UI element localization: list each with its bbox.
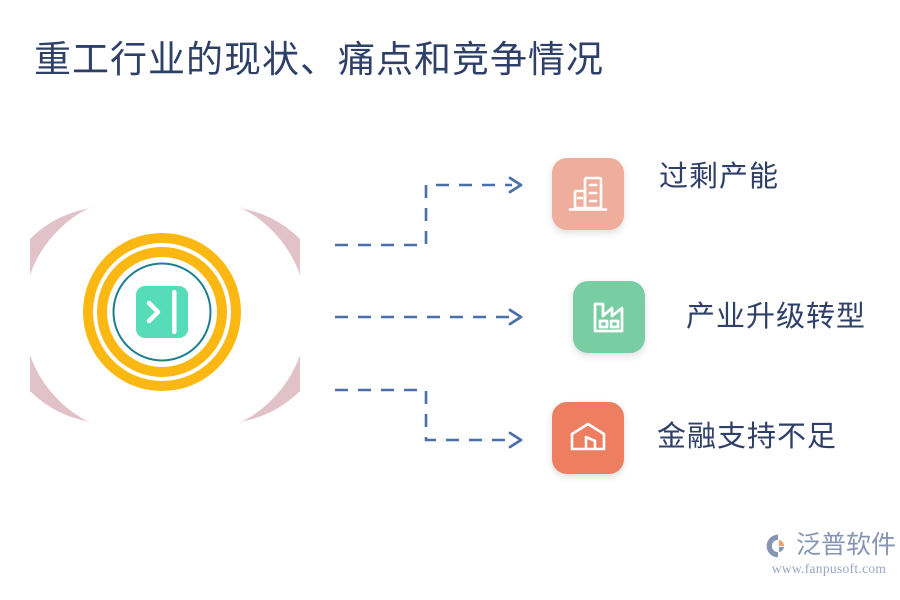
arrow-right-icon-middle: [510, 310, 521, 324]
connector-group: [320, 150, 550, 470]
watermark-brand: 泛普软件: [796, 532, 896, 560]
item-icon-tile-2[interactable]: [573, 281, 645, 353]
fanpu-logo-icon: [764, 532, 792, 560]
warehouse-icon: [565, 415, 611, 461]
item-label-1: 过剩产能: [659, 159, 779, 195]
watermark-url: www.fanpusoft.com: [764, 561, 894, 577]
connector-bottom: [335, 390, 512, 440]
arrow-right-icon-bottom: [510, 433, 521, 447]
connector-top: [335, 185, 512, 245]
watermark-logo: 泛普软件 www.fanpusoft.com: [764, 532, 894, 588]
central-emblem: [30, 190, 300, 440]
item-label-2: 产业升级转型: [686, 299, 866, 335]
item-icon-tile-3[interactable]: [552, 402, 624, 474]
factory-icon: [586, 294, 632, 340]
page-title: 重工行业的现状、痛点和竞争情况: [34, 36, 604, 86]
office-building-icon: [565, 171, 611, 217]
item-icon-tile-1[interactable]: [552, 158, 624, 230]
item-label-3: 金融支持不足: [657, 419, 837, 455]
slide-canvas: 重工行业的现状、痛点和竞争情况: [0, 0, 900, 600]
terminal-console-icon: [136, 286, 188, 338]
